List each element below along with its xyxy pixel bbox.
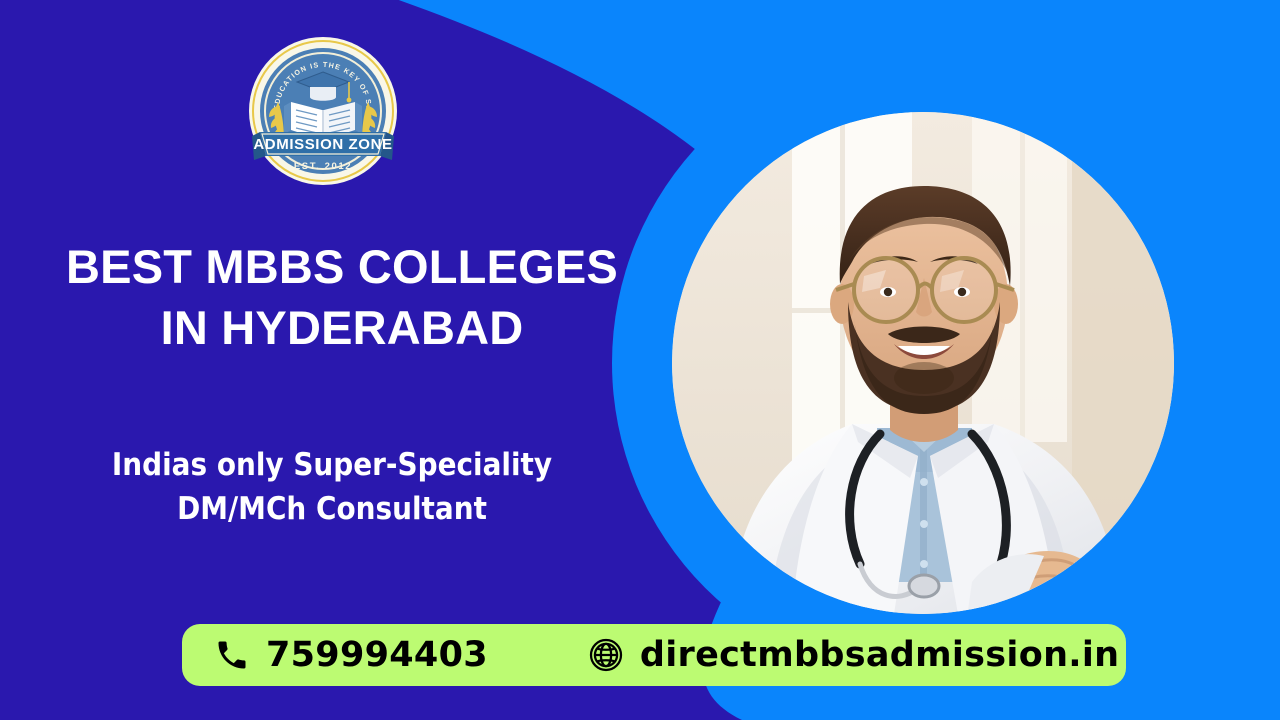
subtitle-line-2: DM/MCh Consultant	[53, 487, 611, 531]
logo-established: EST. 2012	[294, 161, 352, 172]
subtitle-line-1: Indias only Super-Speciality	[112, 447, 552, 483]
subtitle: Indias only Super-Speciality DM/MCh Cons…	[53, 443, 611, 531]
page-title: BEST MBBS COLLEGES IN HYDERABAD	[22, 236, 662, 358]
globe-icon	[586, 635, 626, 675]
headline-line-1: BEST MBBS COLLEGES	[66, 240, 618, 293]
phone-contact[interactable]: 759994403	[212, 635, 488, 675]
doctor-photo	[672, 112, 1174, 614]
contact-bar: 759994403 directmbbsadmission.in	[182, 624, 1126, 686]
logo-brand: ADMISSION ZONE	[253, 136, 392, 153]
banner-root: EDUCATION IS THE KEY OF SUCCESS	[0, 0, 1280, 720]
phone-number: 759994403	[266, 635, 488, 675]
website-url: directmbbsadmission.in	[640, 635, 1120, 675]
admission-zone-logo: EDUCATION IS THE KEY OF SUCCESS	[248, 36, 398, 186]
phone-icon	[212, 635, 252, 675]
website-contact[interactable]: directmbbsadmission.in	[586, 635, 1120, 675]
headline-line-2: IN HYDERABAD	[22, 297, 662, 358]
